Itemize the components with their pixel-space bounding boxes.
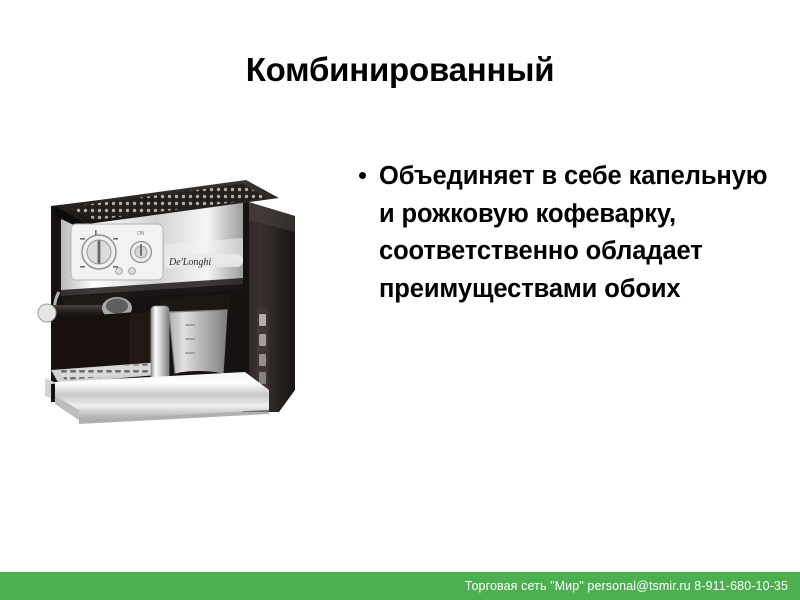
svg-text:ON: ON: [137, 231, 145, 237]
coffee-machine-image: ON De'Longhi: [33, 158, 308, 428]
list-item: Объединяет в себе капельную и рожковую к…: [355, 158, 775, 308]
brand-logo-text: De'Longhi: [168, 257, 211, 268]
body-text-block: Объединяет в себе капельную и рожковую к…: [355, 158, 775, 308]
footer-bar: Торговая сеть "Мир" personal@tsmir.ru 8-…: [0, 572, 800, 600]
page-title: Комбинированный: [60, 52, 740, 88]
glass-carafe: [151, 294, 229, 385]
list-item-text: Объединяет в себе капельную и рожковую к…: [379, 162, 767, 303]
bullet-dot-icon: [359, 172, 366, 179]
slide-canvas: Комбинированный: [0, 0, 800, 600]
footer-contact-text: Торговая сеть "Мир" personal@tsmir.ru 8-…: [465, 579, 788, 593]
control-panel: ON: [71, 224, 163, 280]
